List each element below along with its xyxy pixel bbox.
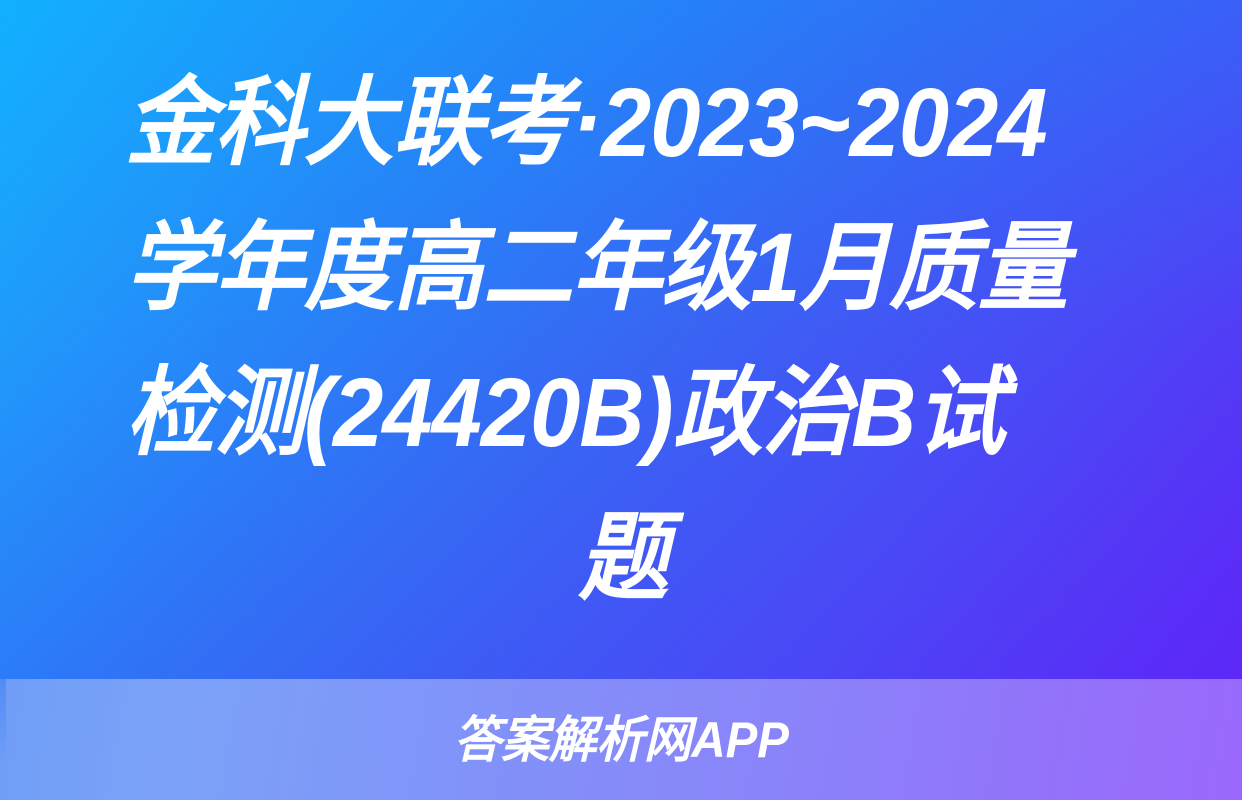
footer-app-label: 答案解析网APP — [453, 712, 788, 768]
title-line-1: 金科大联考·2023~2024 — [125, 50, 1120, 195]
poster-canvas: 金科大联考·2023~2024 学年度高二年级1月质量 检测(24420B)政治… — [0, 0, 1242, 800]
title-block: 金科大联考·2023~2024 学年度高二年级1月质量 检测(24420B)政治… — [0, 0, 1242, 679]
footer-band: 答案解析网APP — [0, 679, 1242, 800]
title-line-2: 学年度高二年级1月质量 — [125, 195, 1120, 340]
title-line-3: 检测(24420B)政治B试 — [125, 340, 1120, 485]
title-line-4: 题 — [125, 485, 1120, 630]
